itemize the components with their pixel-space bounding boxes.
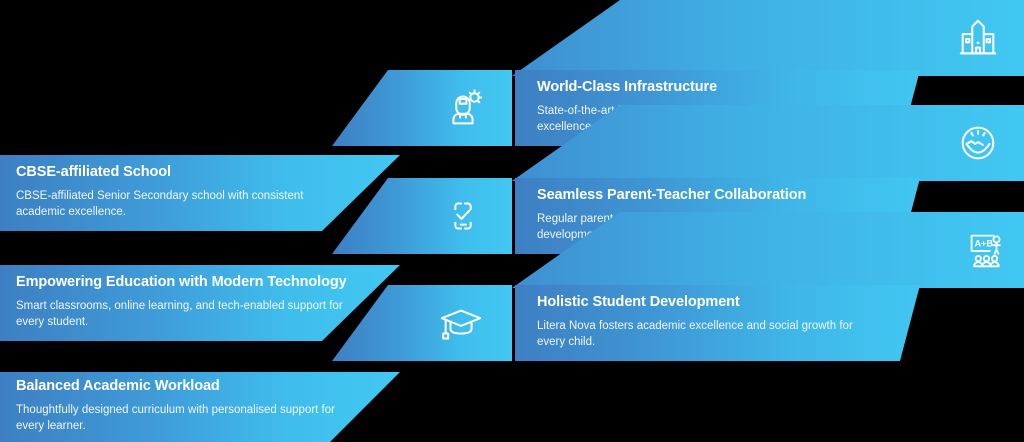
icon-slab-graduation-cap [332,285,512,361]
slab-gradient [0,372,400,442]
svg-text:A+B: A+B [974,239,993,249]
graduation-cap-icon [438,300,484,346]
feature-band-workload[interactable]: Balanced Academic Workload Thoughtfully … [0,372,1024,442]
feature-band-holistic[interactable]: Holistic Student Development Litera Nova… [0,285,1024,361]
school-building-icon [955,15,1001,61]
slab-gradient [515,285,920,361]
icon-slab-school-building [512,0,1024,76]
features-banner: World-Class Infrastructure State-of-the-… [0,0,1024,442]
feature-band-infrastructure-icon [0,0,1024,76]
text-slab-workload [0,372,400,442]
slab-gradient [512,0,1024,76]
slab-gradient [332,285,512,361]
text-slab-holistic [515,285,920,361]
